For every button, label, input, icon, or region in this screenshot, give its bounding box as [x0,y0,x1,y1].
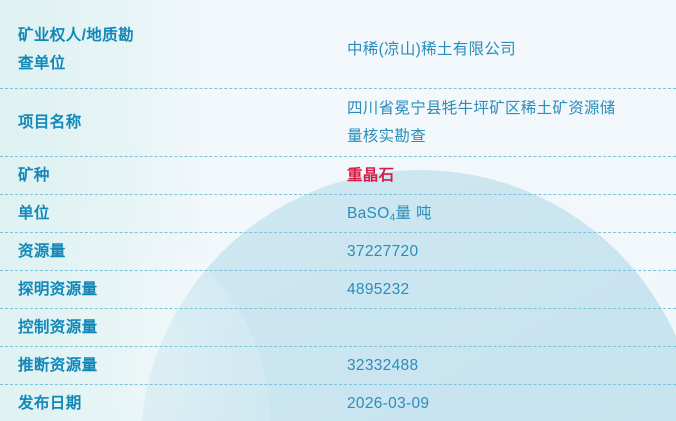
table-row: 矿业权人/地质勘 查单位 中稀(凉山)稀土有限公司 [0,11,676,89]
table-row: 项目名称 四川省冕宁县牦牛坪矿区稀土矿资源储 量核实勘查 [0,89,676,157]
mining-rights-info-card: 矿业权人/地质勘 查单位 中稀(凉山)稀土有限公司 项目名称 四川省冕宁县牦牛坪… [0,0,676,421]
row-value-publish-date: 2026-03-09 [347,390,676,417]
row-value-mineral-type: 重晶石 [347,162,676,189]
row-label-project-name: 项目名称 [0,109,347,136]
row-value-project-name: 四川省冕宁县牦牛坪矿区稀土矿资源储 量核实勘查 [347,95,676,149]
row-value-unit: BaSO4量 吨 [347,200,676,227]
row-value-inferred-resource-amount: 32332488 [347,352,676,379]
table-row: 控制资源量 [0,309,676,347]
row-value-proven-resource-amount: 4895232 [347,276,676,303]
row-label-mining-rights-holder: 矿业权人/地质勘 查单位 [0,22,347,76]
row-label-proven-resource-amount: 探明资源量 [0,276,347,303]
table-row: 推断资源量 32332488 [0,347,676,385]
row-label-mineral-type: 矿种 [0,162,347,189]
row-value-mining-rights-holder: 中稀(凉山)稀土有限公司 [347,36,676,63]
row-value-controlled-resource-amount [347,327,676,328]
table-row: 矿种 重晶石 [0,157,676,195]
unit-formula-suffix: 量 吨 [396,205,432,222]
table-row: 资源量 37227720 [0,233,676,271]
table-row: 发布日期 2026-03-09 [0,385,676,421]
table-row: 单位 BaSO4量 吨 [0,195,676,233]
table-row: 探明资源量 4895232 [0,271,676,309]
info-table: 矿业权人/地质勘 查单位 中稀(凉山)稀土有限公司 项目名称 四川省冕宁县牦牛坪… [0,0,676,421]
row-label-inferred-resource-amount: 推断资源量 [0,352,347,379]
row-label-resource-amount: 资源量 [0,238,347,265]
row-label-unit: 单位 [0,200,347,227]
row-label-publish-date: 发布日期 [0,390,347,417]
row-value-resource-amount: 37227720 [347,238,676,265]
row-label-controlled-resource-amount: 控制资源量 [0,314,347,341]
unit-formula-prefix: BaSO [347,205,390,222]
